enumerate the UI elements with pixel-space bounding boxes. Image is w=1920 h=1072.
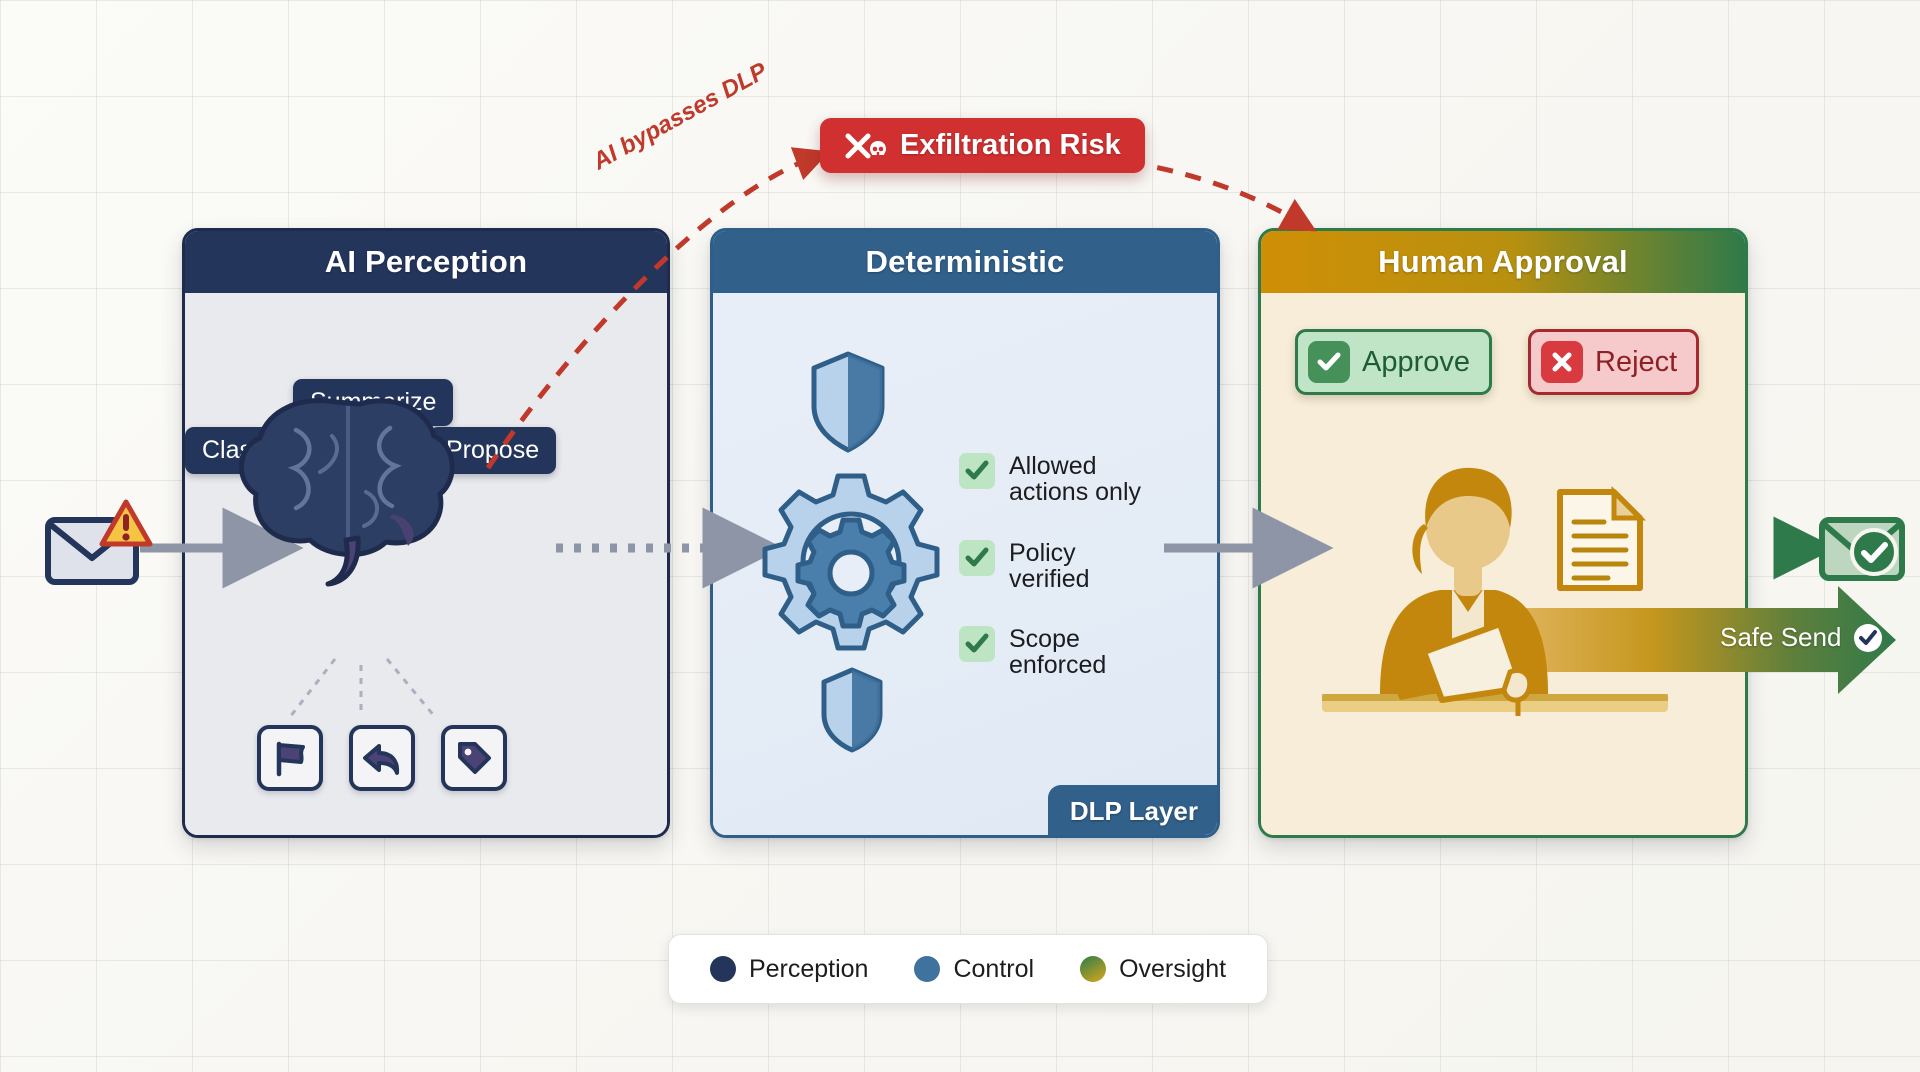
checklist-label: Allowed actions only: [1009, 453, 1141, 506]
exfiltration-risk-label: Exfiltration Risk: [900, 129, 1121, 162]
checklist-label-line1: Allowed: [1009, 452, 1097, 480]
check-icon: [959, 453, 995, 489]
reject-button[interactable]: Reject: [1528, 329, 1699, 395]
checklist-label-line1: Policy: [1009, 539, 1076, 567]
panel-title-ai-perception: AI Perception: [185, 231, 667, 293]
check-circle-icon: [1853, 623, 1883, 653]
decision-button-row: Approve Reject: [1295, 329, 1699, 395]
legend-dot-control: [914, 956, 940, 982]
bypass-arrow-label: AI bypasses DLP: [588, 57, 772, 176]
panel-ai-perception: AI Perception Summarize Classify Propose: [182, 228, 670, 838]
legend-label-perception: Perception: [749, 955, 869, 984]
outgoing-safe-email: [1822, 520, 1902, 578]
action-icon-row: [257, 725, 507, 791]
checklist-label: Policy verified: [1009, 540, 1090, 593]
dlp-layer-badge: DLP Layer: [1048, 785, 1220, 838]
panel-body-deterministic: Allowed actions only Policy verified: [713, 293, 1217, 835]
approve-button[interactable]: Approve: [1295, 329, 1492, 395]
check-icon: [959, 540, 995, 576]
safe-send-label: Safe Send: [1720, 622, 1841, 653]
panel-title-deterministic: Deterministic: [713, 231, 1217, 293]
checklist-label: Scope enforced: [1009, 626, 1106, 679]
panel-human-approval: Human Approval Approve: [1258, 228, 1748, 838]
legend-item-control: Control: [914, 955, 1034, 984]
legend-item-perception: Perception: [710, 955, 869, 984]
checklist-item: Policy verified: [959, 540, 1141, 593]
legend-item-oversight: Oversight: [1080, 955, 1226, 984]
checklist-label-line2: actions only: [1009, 478, 1141, 506]
legend-label-oversight: Oversight: [1119, 955, 1226, 984]
safe-send-label-group: Safe Send: [1720, 622, 1883, 653]
legend-label-control: Control: [953, 955, 1034, 984]
approve-button-label: Approve: [1362, 346, 1470, 379]
panel-title-human-approval: Human Approval: [1261, 231, 1745, 293]
tag-icon[interactable]: [441, 725, 507, 791]
flag-icon[interactable]: [257, 725, 323, 791]
warning-triangle-icon: [102, 502, 150, 544]
skull-icon: [868, 140, 888, 160]
incoming-email-with-warning: [48, 502, 150, 582]
checklist-item: Scope enforced: [959, 626, 1141, 679]
checklist-label-line2: enforced: [1009, 651, 1106, 679]
panel-deterministic: Deterministic Allowed actions only: [710, 228, 1220, 838]
exfiltration-risk-badge[interactable]: Exfiltration Risk: [820, 118, 1145, 173]
check-icon: [1308, 341, 1350, 383]
legend-dot-perception: [710, 956, 736, 982]
legend: Perception Control Oversight: [668, 934, 1268, 1004]
close-icon: [1541, 341, 1583, 383]
reject-button-label: Reject: [1595, 346, 1677, 379]
reply-icon[interactable]: [349, 725, 415, 791]
policy-checklist: Allowed actions only Policy verified: [959, 453, 1141, 679]
panel-body-human-approval: Approve Reject: [1261, 293, 1745, 835]
checklist-label-line1: Scope: [1009, 625, 1080, 653]
panel-body-ai-perception: Summarize Classify Propose: [185, 293, 667, 835]
checklist-item: Allowed actions only: [959, 453, 1141, 506]
check-circle-icon: [1852, 530, 1896, 574]
checklist-label-line2: verified: [1009, 565, 1090, 593]
check-icon: [959, 626, 995, 662]
legend-dot-oversight: [1080, 956, 1106, 982]
diagram-canvas: AI Perception Summarize Classify Propose: [0, 0, 1920, 1072]
